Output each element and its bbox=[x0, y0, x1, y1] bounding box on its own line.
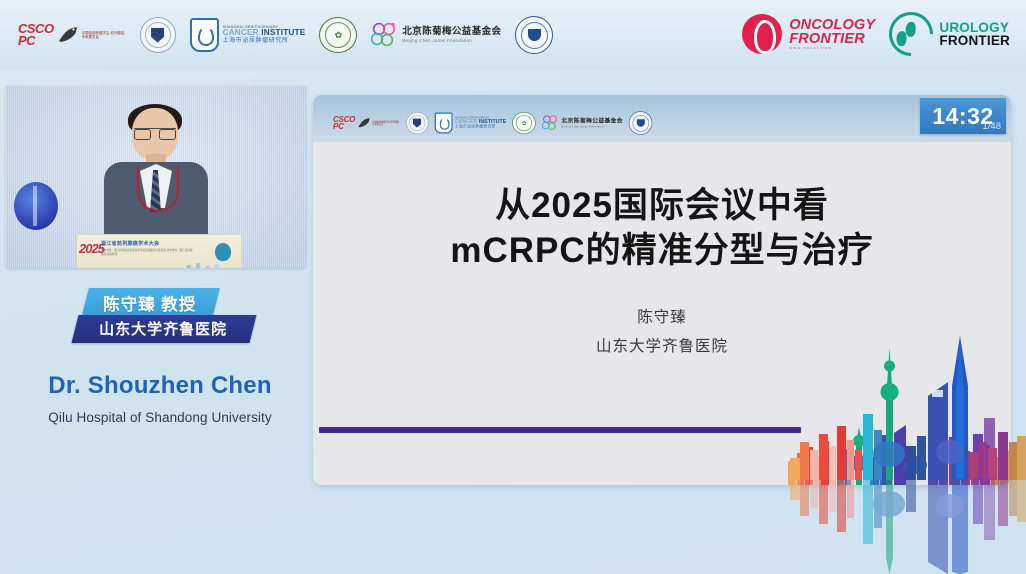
oncology-line1: ONCOLOGY bbox=[789, 18, 875, 32]
beijing-chen-jumei-foundation-logo: 北京陈菊梅公益基金会 Beijing Chen Jumei Foundation bbox=[371, 22, 501, 48]
oncology-frontier-logo: ONCOLOGY FRONTIER www.oncol.com bbox=[742, 14, 875, 54]
speaker-figure bbox=[102, 108, 210, 242]
slide-blue-seal-logo bbox=[629, 111, 653, 135]
slide-csco-subtitle: 中国临床肿瘤学会 前列腺癌专家委员会 bbox=[372, 120, 399, 125]
sgci-line2b: INSTITUTE bbox=[261, 28, 305, 37]
slide-flower-icon bbox=[542, 115, 558, 131]
sponsor-logo-bar: CSCO PC 中国临床肿瘤学会 前列腺癌专家委员会 SHANGHAI GENI… bbox=[0, 0, 1026, 70]
slide-cup-icon bbox=[637, 119, 645, 126]
slide-shield-icon bbox=[413, 118, 421, 127]
kidney-icon bbox=[880, 3, 942, 65]
sponsor-logos-left: CSCO PC 中国临床肿瘤学会 前列腺癌专家委员会 SHANGHAI GENI… bbox=[18, 12, 553, 58]
slide-sgci-line2b: INSTITUTE bbox=[479, 119, 506, 125]
slide-accent-rule bbox=[319, 427, 801, 433]
sponsor-logos-right: ONCOLOGY FRONTIER www.oncol.com UROLOGY … bbox=[742, 10, 1010, 58]
flower-icon bbox=[371, 22, 397, 48]
sgci-line3: 上海市泌尿肿瘤研究所 bbox=[223, 38, 306, 44]
slide-sgci-line2: CANCER bbox=[455, 119, 477, 125]
speaker-org-banner: 山东大学齐鲁医院 bbox=[72, 315, 257, 343]
podium-title: 浙江省前列腺癌学术大会 bbox=[101, 240, 159, 247]
csco-text-line2: PC bbox=[18, 35, 54, 47]
seal-logo bbox=[140, 17, 176, 53]
skyline-reflection bbox=[790, 478, 1026, 574]
stage-globe-graphic bbox=[14, 182, 58, 230]
speaker-english-name: Dr. Shouzhen Chen bbox=[0, 372, 320, 400]
slide-green-seal-logo: ✿ bbox=[512, 112, 536, 134]
slide-csco-pc-logo: CSCO PC 中国临床肿瘤学会 前列腺癌专家委员会 bbox=[333, 116, 400, 131]
slide-beijing-foundation-logo: 北京陈菊梅公益基金会 Beijing Chen Jumei Foundation bbox=[542, 115, 623, 131]
csco-bird-icon bbox=[57, 25, 79, 45]
slide-bcj-en: Beijing Chen Jumei Foundation bbox=[561, 125, 622, 128]
slide-csco-bird-icon bbox=[357, 117, 371, 129]
cup-icon bbox=[528, 29, 541, 41]
podium: 2025 浙江省前列腺癌学术大会 主办单位：浙江省抗癌协会泌尿男生殖系肿瘤专业委… bbox=[76, 234, 242, 268]
page-skyline-graphic bbox=[790, 330, 1026, 574]
slide-sgci-shield-icon bbox=[434, 112, 452, 133]
bcj-cn-name: 北京陈菊梅公益基金会 bbox=[402, 27, 501, 38]
live-stream-page: CSCO PC 中国临床肿瘤学会 前列腺癌专家委员会 SHANGHAI GENI… bbox=[0, 0, 1026, 574]
speaker-name-text: 陈守臻 教授 bbox=[103, 291, 196, 315]
oncology-mark-icon bbox=[742, 14, 782, 54]
live-video-feed[interactable]: 2025 浙江省前列腺癌学术大会 主办单位：浙江省抗癌协会泌尿男生殖系肿瘤专业委… bbox=[6, 86, 306, 268]
slide-title: 从2025国际会议中看 mCRPC的精准分型与治疗 bbox=[313, 184, 1011, 274]
slide-header-logos: CSCO PC 中国临床肿瘤学会 前列腺癌专家委员会 SHANGHAI GENI… bbox=[333, 111, 653, 135]
podium-skyline-graphic bbox=[183, 261, 219, 268]
slide-header-band: CSCO PC 中国临床肿瘤学会 前列腺癌专家委员会 SHANGHAI GENI… bbox=[313, 95, 1011, 142]
slide-sgci-line3: 上海市泌尿肿瘤研究所 bbox=[455, 125, 506, 129]
slide-csco-line2: PC bbox=[333, 123, 355, 130]
bcj-en-name: Beijing Chen Jumei Foundation bbox=[402, 38, 501, 43]
speaker-org-text: 山东大学齐鲁医院 bbox=[99, 318, 227, 339]
green-seal-logo: ✿ bbox=[319, 17, 357, 53]
csco-pc-logo: CSCO PC 中国临床肿瘤学会 前列腺癌专家委员会 bbox=[18, 23, 126, 47]
slide-title-line1: 从2025国际会议中看 bbox=[313, 184, 1011, 229]
slide-title-line2: mCRPC的精准分型与治疗 bbox=[313, 229, 1011, 274]
blue-seal-logo bbox=[515, 16, 553, 54]
session-timer-badge[interactable]: 14:32 1/48 bbox=[920, 98, 1006, 134]
timer-page-counter: 1/48 bbox=[983, 121, 1002, 132]
slide-shanghai-institute-logo: SHANGHAI GENITOURINARY CANCER INSTITUTE … bbox=[434, 112, 506, 133]
sgci-line2: CANCER bbox=[223, 28, 259, 37]
oncology-line2: FRONTIER bbox=[789, 32, 875, 46]
glasses-icon bbox=[134, 128, 176, 138]
shanghai-genitourinary-cancer-institute-logo: SHANGHAI GENITOURINARY CANCER INSTITUTE … bbox=[190, 18, 306, 52]
csco-subtitle: 中国临床肿瘤学会 前列腺癌专家委员会 bbox=[82, 31, 126, 40]
slide-presenter-name: 陈守臻 bbox=[313, 303, 1011, 332]
urology-line2: FRONTIER bbox=[939, 34, 1010, 47]
podium-subtitle: 主办单位：浙江省抗癌协会泌尿男生殖系肿瘤专业委员会 承办单位：浙江省肿瘤医院 泌… bbox=[101, 249, 193, 257]
urology-frontier-logo: UROLOGY FRONTIER bbox=[889, 12, 1010, 56]
shield-icon bbox=[151, 28, 164, 43]
speaker-english-org: Qilu Hospital of Shandong University bbox=[0, 410, 320, 425]
sgci-shield-icon bbox=[190, 18, 219, 52]
slide-bcj-cn: 北京陈菊梅公益基金会 bbox=[561, 118, 622, 125]
podium-emblem-icon bbox=[215, 243, 231, 261]
slide-seal-logo bbox=[406, 112, 428, 134]
speaker-lanyard bbox=[137, 166, 179, 212]
